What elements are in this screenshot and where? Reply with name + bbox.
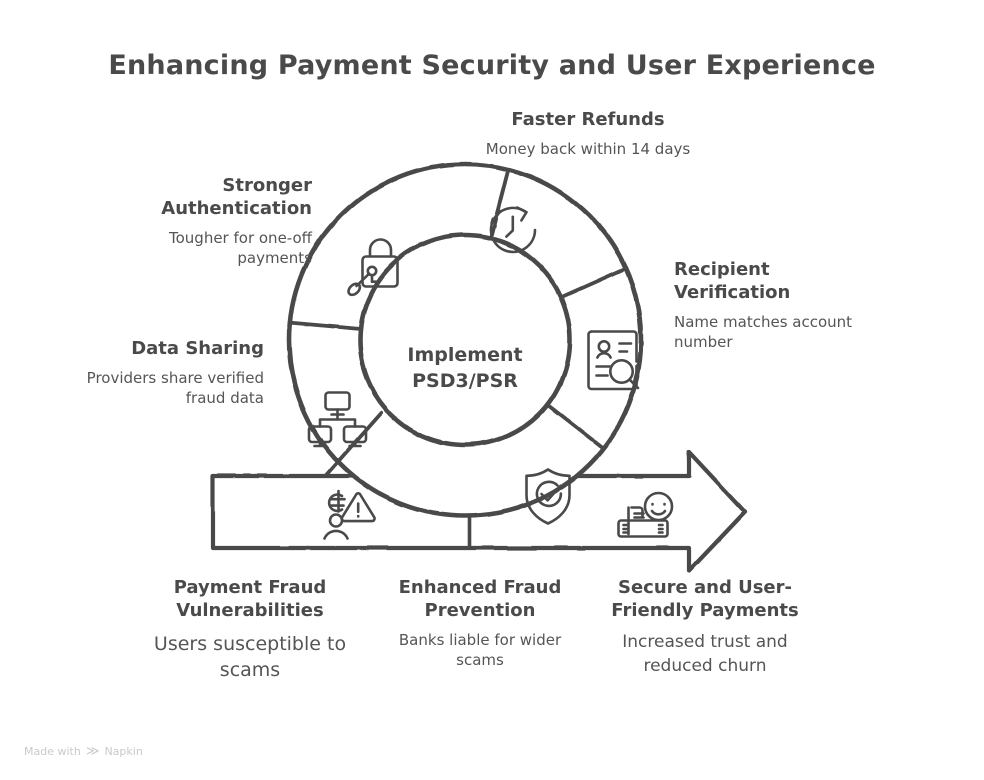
watermark-brand: Napkin (104, 745, 142, 758)
person-warning-icon (325, 491, 375, 539)
cycle-center-line-1: Implement (365, 343, 565, 369)
watermark: Made with ≫ Napkin (24, 745, 143, 758)
node-data-sharing: Data Sharing Providers share verified fr… (86, 337, 264, 409)
node-description-secure-user-friendly-payments: Increased trust and reduced churn (608, 631, 802, 678)
node-description-payment-fraud-vulnerabilities: Users susceptible to scams (150, 631, 350, 683)
node-description-data-sharing: Providers share verified fraud data (86, 369, 264, 409)
napkin-logo-icon: ≫ (86, 745, 100, 758)
node-description-recipient-verification: Name matches account number (674, 313, 879, 353)
node-title-recipient-verification: Recipient Verification (674, 258, 879, 304)
node-description-stronger-authentication: Tougher for one-off payments (112, 229, 312, 269)
node-secure-user-friendly-payments: Secure and User-Friendly Payments Increa… (608, 576, 802, 678)
watermark-prefix: Made with (24, 745, 81, 758)
node-enhanced-fraud-prevention: Enhanced Fraud Prevention Banks liable f… (385, 576, 575, 671)
node-faster-refunds: Faster Refunds Money back within 14 days (468, 108, 708, 160)
node-description-faster-refunds: Money back within 14 days (468, 140, 708, 160)
node-title-payment-fraud-vulnerabilities: Payment Fraud Vulnerabilities (150, 576, 350, 622)
happy-customer-card-icon (619, 493, 673, 537)
cycle-center-line-2: PSD3/PSR (365, 369, 565, 395)
node-stronger-authentication: Stronger Authentication Tougher for one-… (112, 174, 312, 269)
diagram-canvas: Enhancing Payment Security and User Expe… (0, 0, 984, 780)
node-title-secure-user-friendly-payments: Secure and User-Friendly Payments (608, 576, 802, 622)
node-title-data-sharing: Data Sharing (86, 337, 264, 360)
node-recipient-verification: Recipient Verification Name matches acco… (674, 258, 879, 353)
node-title-faster-refunds: Faster Refunds (468, 108, 708, 131)
node-title-stronger-authentication: Stronger Authentication (112, 174, 312, 220)
node-description-enhanced-fraud-prevention: Banks liable for wider scams (385, 631, 575, 671)
cycle-center-label: Implement PSD3/PSR (365, 343, 565, 394)
node-title-enhanced-fraud-prevention: Enhanced Fraud Prevention (385, 576, 575, 622)
node-payment-fraud-vulnerabilities: Payment Fraud Vulnerabilities Users susc… (150, 576, 350, 684)
